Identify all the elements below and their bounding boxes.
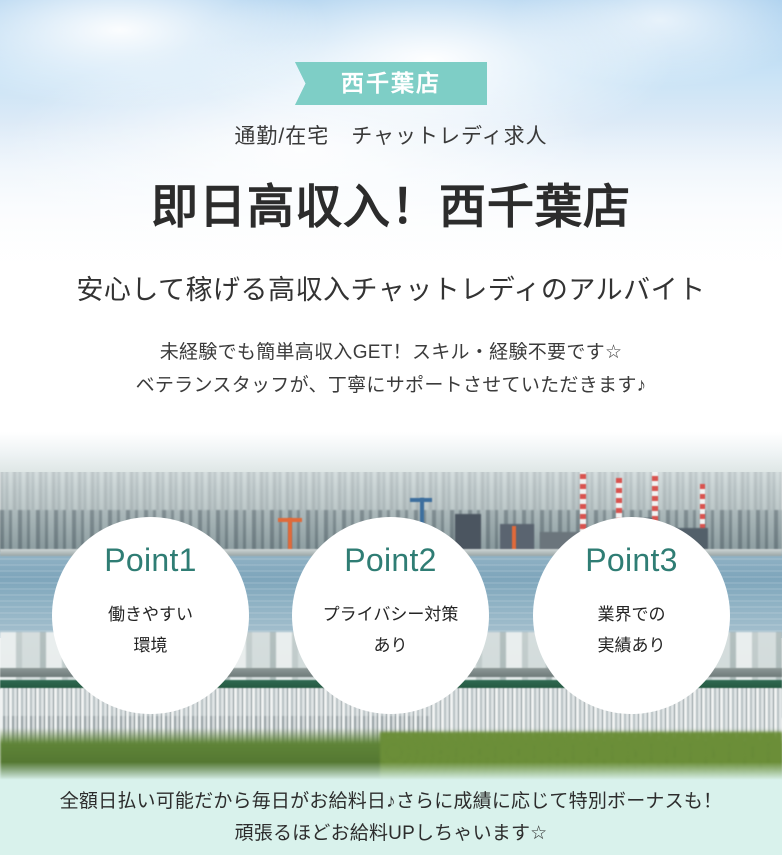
port-crane [288,518,292,552]
ribbon-label: 西千葉店 [295,62,487,105]
point-circle-2-body-line-1: プライバシー対策 [323,600,459,631]
pay-promo-banner-line-2: 頑張るほどお給料UPしちゃいます☆ [235,818,548,849]
point-circle-2-body-line-2: あり [323,631,459,662]
point-circle-3-body: 業界での 実績あり [598,600,666,661]
point-circle-3[interactable]: Point3 業界での 実績あり [533,517,730,714]
point-circle-2[interactable]: Point2 プライバシー対策 あり [292,517,489,714]
port-crane-boom [278,518,302,522]
point-circle-3-title: Point3 [585,543,678,578]
hero-subtitle: 通勤/在宅 チャットレディ求人 [0,120,782,150]
point-circle-1[interactable]: Point1 働きやすい 環境 [52,517,249,714]
point-circle-2-title: Point2 [344,543,437,578]
hero-description-line-2: ベテランスタッフが、丁寧にサポートさせていただきます♪ [0,369,782,402]
port-crane-boom [410,498,432,502]
landing-page-hero: 西千葉店 通勤/在宅 チャットレディ求人 即日高収入！西千葉店 安心して稼げる高… [0,0,782,855]
point-circle-1-body-line-1: 働きやすい [108,600,193,631]
point-circle-3-body-line-1: 業界での [598,600,666,631]
pay-promo-banner-line-1: 全額日払い可能だから毎日がお給料日♪さらに成績に応じて特別ボーナスも！ [60,786,723,817]
hero-headline: 即日高収入！西千葉店 [0,178,782,237]
industrial-block [500,524,534,552]
point-circle-2-body: プライバシー対策 あり [323,600,459,661]
point-circle-1-body-line-2: 環境 [108,631,193,662]
pay-promo-banner: 全額日払い可能だから毎日がお給料日♪さらに成績に応じて特別ボーナスも！ 頑張るほ… [0,780,782,855]
point-circle-1-title: Point1 [104,543,197,578]
photo-bottom-fade [0,762,782,780]
store-name-ribbon: 西千葉店 [295,62,487,105]
point-circle-3-body-line-2: 実績あり [598,631,666,662]
photo-top-haze [0,432,782,472]
point-circle-1-body: 働きやすい 環境 [108,600,193,661]
hero-lead-text: 安心して稼げる高収入チャットレディのアルバイト [0,268,782,307]
hero-description-line-1: 未経験でも簡単高収入GET！スキル・経験不要です☆ [0,336,782,369]
hero-description: 未経験でも簡単高収入GET！スキル・経験不要です☆ ベテランスタッフが、丁寧にサ… [0,336,782,403]
